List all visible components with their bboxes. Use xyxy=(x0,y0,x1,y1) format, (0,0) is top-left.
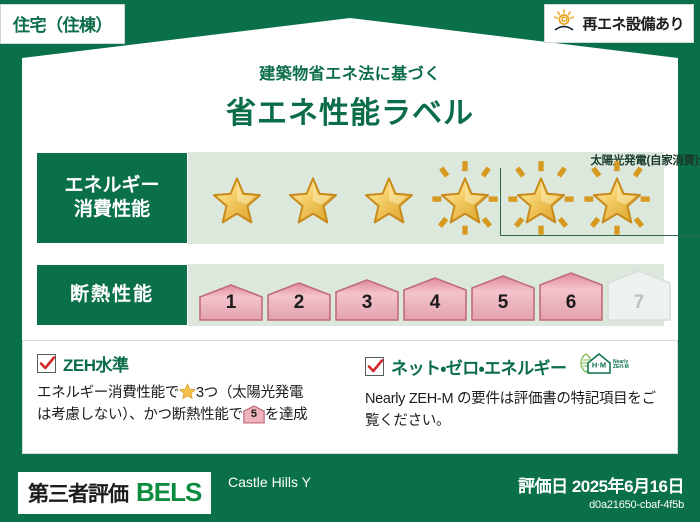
star-filled xyxy=(276,160,350,236)
insulation-grade-number: 2 xyxy=(266,292,332,314)
insulation-performance-row: 断熱性能 1234567 xyxy=(36,264,664,326)
bels-jp-label: 第三者評価 xyxy=(28,478,128,508)
insulation-grade-active: 5 xyxy=(470,275,536,322)
check-icon xyxy=(367,358,384,375)
insulation-grade-active: 3 xyxy=(334,279,400,322)
inline-grade-badge: 5 xyxy=(243,405,265,424)
page-title: 省エネ性能ラベル xyxy=(0,88,700,132)
bels-en-label: BELS xyxy=(136,477,201,508)
star-solar xyxy=(504,160,578,236)
net-zero-energy-header: ネット・ゼロ・エネルギー H·M Nearly ZEH-M xyxy=(365,351,667,382)
project-name: Castle Hills Y xyxy=(228,474,468,490)
insulation-grade-number: 7 xyxy=(606,292,672,314)
building-type-label: 住宅（住棟） xyxy=(13,16,112,35)
energy-performance-label-box: エネルギー 消費性能 xyxy=(36,152,188,244)
building-type-tag: 住宅（住棟） xyxy=(0,4,125,44)
checkbox-net-zero-energy[interactable] xyxy=(365,357,384,376)
inline-star-icon xyxy=(179,383,196,400)
evaluation-id: d0a21650-cbaf-4f5b xyxy=(518,499,684,511)
zeh-body-part4: を達成 xyxy=(265,407,308,423)
zeh-standard-title: ZEH水準 xyxy=(63,351,129,376)
star-solar xyxy=(580,160,654,236)
renewable-energy-label: 再エネ設備あり xyxy=(582,13,684,34)
star-filled xyxy=(352,160,426,236)
insulation-grade-group: 1234567 xyxy=(198,264,658,326)
evaluation-meta: 評価日 2025年6月16日 d0a21650-cbaf-4f5b xyxy=(518,472,684,511)
star-rating-group xyxy=(200,152,658,244)
insulation-grade-active: 6 xyxy=(538,272,604,322)
energy-performance-body: 太陽光発電(自家消費)分 xyxy=(188,152,664,244)
insulation-grade-number: 5 xyxy=(470,292,536,314)
insulation-performance-body: 1234567 xyxy=(188,264,664,326)
insulation-grade-number: 6 xyxy=(538,292,604,314)
star-solar xyxy=(428,160,502,236)
title-subtitle: 建築物省エネ法に基づく xyxy=(0,60,700,84)
star-filled xyxy=(200,160,274,236)
svg-text:ZEH-M: ZEH-M xyxy=(613,364,629,370)
insulation-grade-number: 4 xyxy=(402,292,468,314)
energy-label-line1: エネルギー xyxy=(64,174,159,198)
evaluation-date-label: 評価日 xyxy=(518,477,568,496)
zeh-body-part1: エネルギー消費性能で xyxy=(37,385,179,401)
zeh-standard-body: エネルギー消費性能で3つ（太陽光発電は考慮しない）、かつ断熱性能で5を達成 xyxy=(37,382,340,427)
renewable-energy-badge: 再エネ設備あり xyxy=(544,4,694,43)
insulation-label: 断熱性能 xyxy=(70,283,154,307)
insulation-performance-label-box: 断熱性能 xyxy=(36,264,188,326)
insulation-grade-active: 4 xyxy=(402,277,468,322)
bels-certification-box: 第三者評価 BELS xyxy=(18,472,211,514)
insulation-grade-number: 3 xyxy=(334,292,400,314)
svg-text:H·M: H·M xyxy=(591,361,605,370)
check-icon xyxy=(39,355,56,372)
energy-performance-row: エネルギー 消費性能 太陽光発電(自家消費)分 xyxy=(36,152,664,244)
label-footer: 第三者評価 BELS Castle Hills Y 評価日 2025年6月16日… xyxy=(0,460,700,522)
evaluation-date: 評価日 2025年6月16日 xyxy=(518,472,684,497)
energy-label-line2: 消費性能 xyxy=(74,198,150,222)
insulation-grade-active: 1 xyxy=(198,284,264,322)
zeh-m-logo: H·M Nearly ZEH-M xyxy=(578,351,634,382)
energy-performance-label: 住宅（住棟） 再エネ設備あり 建築物省エネ法に基づく 省エネ性能ラベル xyxy=(0,0,700,522)
zeh-body-part3: は考慮しない）、かつ断熱性能で xyxy=(37,407,243,423)
zeh-body-part2: 3つ（太陽光発電 xyxy=(196,385,303,401)
insulation-grade-inactive: 7 xyxy=(606,270,672,322)
insulation-grade-number: 1 xyxy=(198,292,264,314)
label-title-block: 建築物省エネ法に基づく 省エネ性能ラベル xyxy=(0,60,700,132)
criteria-info-panel: ZEH水準 エネルギー消費性能で3つ（太陽光発電は考慮しない）、かつ断熱性能で5… xyxy=(22,340,678,454)
zeh-standard-section: ZEH水準 エネルギー消費性能で3つ（太陽光発電は考慮しない）、かつ断熱性能で5… xyxy=(23,341,350,453)
zeh-standard-header: ZEH水準 xyxy=(37,351,340,376)
checkbox-zeh-standard[interactable] xyxy=(37,354,56,373)
net-zero-energy-section: ネット・ゼロ・エネルギー H·M Nearly ZEH-M Nearly ZEH… xyxy=(350,341,677,453)
net-zero-energy-title: ネット・ゼロ・エネルギー xyxy=(391,354,567,379)
evaluation-date-value: 2025年6月16日 xyxy=(572,477,684,496)
net-zero-energy-body: Nearly ZEH-M の要件は評価書の特記項目をご覧ください。 xyxy=(365,388,667,433)
solar-sun-icon xyxy=(551,9,577,38)
inline-grade-number: 5 xyxy=(243,406,265,423)
insulation-grade-active: 2 xyxy=(266,282,332,322)
